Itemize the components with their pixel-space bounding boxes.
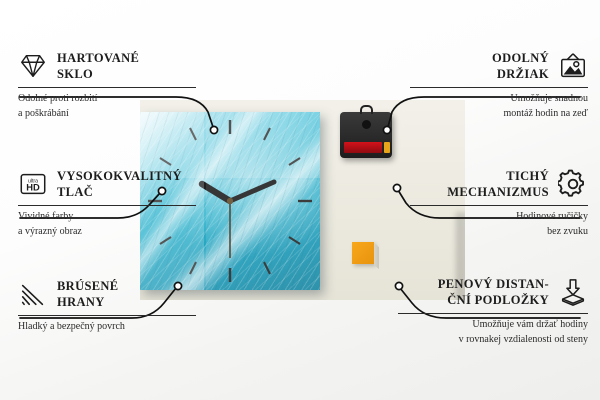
feature-title-line1: ODOLNÝ	[492, 50, 549, 66]
mechanism-hanger	[360, 105, 373, 114]
feature-desc-line2: a poškrábání	[18, 107, 196, 121]
feature-desc-line1: Umožňuje snadnou	[410, 92, 588, 106]
ultra-hd-icon: ultra HD	[18, 169, 48, 199]
mechanism-shaft	[362, 120, 371, 129]
battery	[344, 142, 382, 153]
feature-tempered-glass: HARTOVANÉ SKLO Odolné proti rozbití a po…	[18, 50, 196, 121]
feature-title-line1: HARTOVANÉ	[57, 50, 139, 66]
feature-foam-spacers: PENOVÝ DISTAN- ČNÍ PODLOŽKY Umožňuje vám…	[398, 276, 588, 347]
press-down-stack-icon	[558, 277, 588, 307]
feature-ground-edges: BRÚSENÉ HRANY Hladký a bezpečný povrch	[18, 278, 196, 335]
feature-title-line1: TICHÝ	[447, 168, 549, 184]
feature-durable-hanger: ODOLNÝ DRŽIAK Umožňuje snadnou montáž ho…	[410, 50, 588, 121]
diamond-icon	[18, 51, 48, 81]
feature-desc-line1: Odolné proti rozbití	[18, 92, 196, 106]
feature-title-line2: SKLO	[57, 66, 139, 82]
feature-desc-line1: Umožňuje vám držať hodiny	[398, 318, 588, 332]
feature-desc-line1: Hladký a bezpečný povrch	[18, 320, 196, 334]
battery-terminal	[384, 142, 390, 153]
ultra-hd-icon-bottom: HD	[26, 183, 40, 193]
feature-desc-line2: montáž hodin na zeď	[410, 107, 588, 121]
clock-hands	[202, 182, 274, 258]
feature-desc-line2: bez zvuku	[410, 225, 588, 239]
feature-divider	[18, 205, 196, 206]
feature-desc-line2: a výrazný obraz	[18, 225, 196, 239]
feature-divider	[398, 313, 588, 314]
feature-title-line1: PENOVÝ DISTAN-	[438, 276, 549, 292]
feature-high-quality-print: ultra HD VYSOKOKVALITNÝ TLAČ Vividné far…	[18, 168, 196, 239]
feature-title-line2: ČNÍ PODLOŽKY	[438, 292, 549, 308]
feature-divider	[410, 87, 588, 88]
feature-title-line1: BRÚSENÉ	[57, 278, 119, 294]
foam-spacer-image	[352, 242, 374, 264]
clock-mechanism-image	[340, 112, 392, 158]
feature-desc-line1: Vividné farby	[18, 210, 196, 224]
feature-title-line2: MECHANIZMUS	[447, 184, 549, 200]
feature-divider	[18, 87, 196, 88]
infographic-stage: HARTOVANÉ SKLO Odolné proti rozbití a po…	[0, 0, 600, 400]
feature-divider	[410, 205, 588, 206]
feature-desc-line2: v rovnakej vzdialenosti od steny	[398, 333, 588, 347]
feature-desc-line1: Hodinové ručičky	[410, 210, 588, 224]
hatched-edge-icon	[18, 279, 48, 309]
gear-icon	[558, 169, 588, 199]
feature-divider	[18, 315, 196, 316]
feature-title-line2: DRŽIAK	[492, 66, 549, 82]
picture-frame-icon	[558, 51, 588, 81]
feature-title-line2: HRANY	[57, 294, 119, 310]
feature-title-line2: TLAČ	[57, 184, 182, 200]
feature-silent-mechanism: TICHÝ MECHANIZMUS Hodinové ručičky bez z…	[410, 168, 588, 239]
feature-title-line1: VYSOKOKVALITNÝ	[57, 168, 182, 184]
